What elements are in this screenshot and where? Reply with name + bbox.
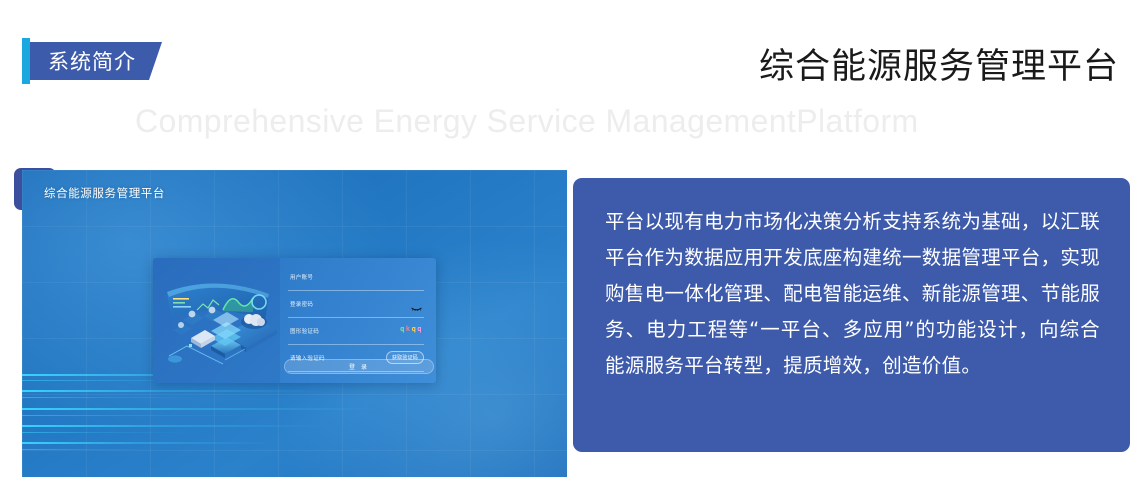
password-field-label: 登录密码 xyxy=(290,300,313,308)
login-form: 用户账号 登录密码 图形验证码 qkqq 请输入验证码 获取验证码 登 录 xyxy=(280,258,436,383)
eye-toggle-icon[interactable] xyxy=(411,304,422,311)
badge-accent-bar xyxy=(22,38,30,84)
captcha-char: q xyxy=(417,325,423,333)
page-subtitle-english: Comprehensive Energy Service ManagementP… xyxy=(135,103,919,140)
description-panel: 平台以现有电力市场化决策分析支持系统为基础，以汇联平台作为数据应用开发底座构建统… xyxy=(573,178,1130,452)
login-card: 用户账号 登录密码 图形验证码 qkqq 请输入验证码 获取验证码 登 录 xyxy=(153,258,436,383)
isometric-tech-illustration xyxy=(153,258,280,383)
captcha-field-row[interactable]: 图形验证码 qkqq xyxy=(288,323,424,345)
account-field-label: 用户账号 xyxy=(290,273,313,281)
light-streak xyxy=(22,449,162,450)
illustration-svg xyxy=(153,258,280,383)
captcha-field-label: 图形验证码 xyxy=(290,327,319,335)
light-streak xyxy=(22,415,252,416)
section-badge-label: 系统简介 xyxy=(48,46,136,76)
account-field-row[interactable]: 用户账号 xyxy=(288,269,424,291)
section-badge: 系统简介 xyxy=(22,42,162,80)
captcha-image[interactable]: qkqq xyxy=(400,325,423,333)
light-streak xyxy=(22,425,322,427)
login-submit-button[interactable]: 登 录 xyxy=(284,359,434,374)
light-streak xyxy=(22,442,272,444)
screenshot-app-title: 综合能源服务管理平台 xyxy=(44,185,165,201)
light-streak xyxy=(22,432,192,433)
product-screenshot-panel: 综合能源服务管理平台 xyxy=(22,170,567,477)
badge-body: 系统简介 xyxy=(30,42,162,80)
page-title: 综合能源服务管理平台 xyxy=(759,38,1119,89)
password-field-row[interactable]: 登录密码 xyxy=(288,296,424,318)
light-streak xyxy=(22,397,212,398)
light-streak xyxy=(22,390,322,392)
light-streak xyxy=(22,408,382,410)
description-text: 平台以现有电力市场化决策分析支持系统为基础，以汇联平台作为数据应用开发底座构建统… xyxy=(605,204,1100,384)
